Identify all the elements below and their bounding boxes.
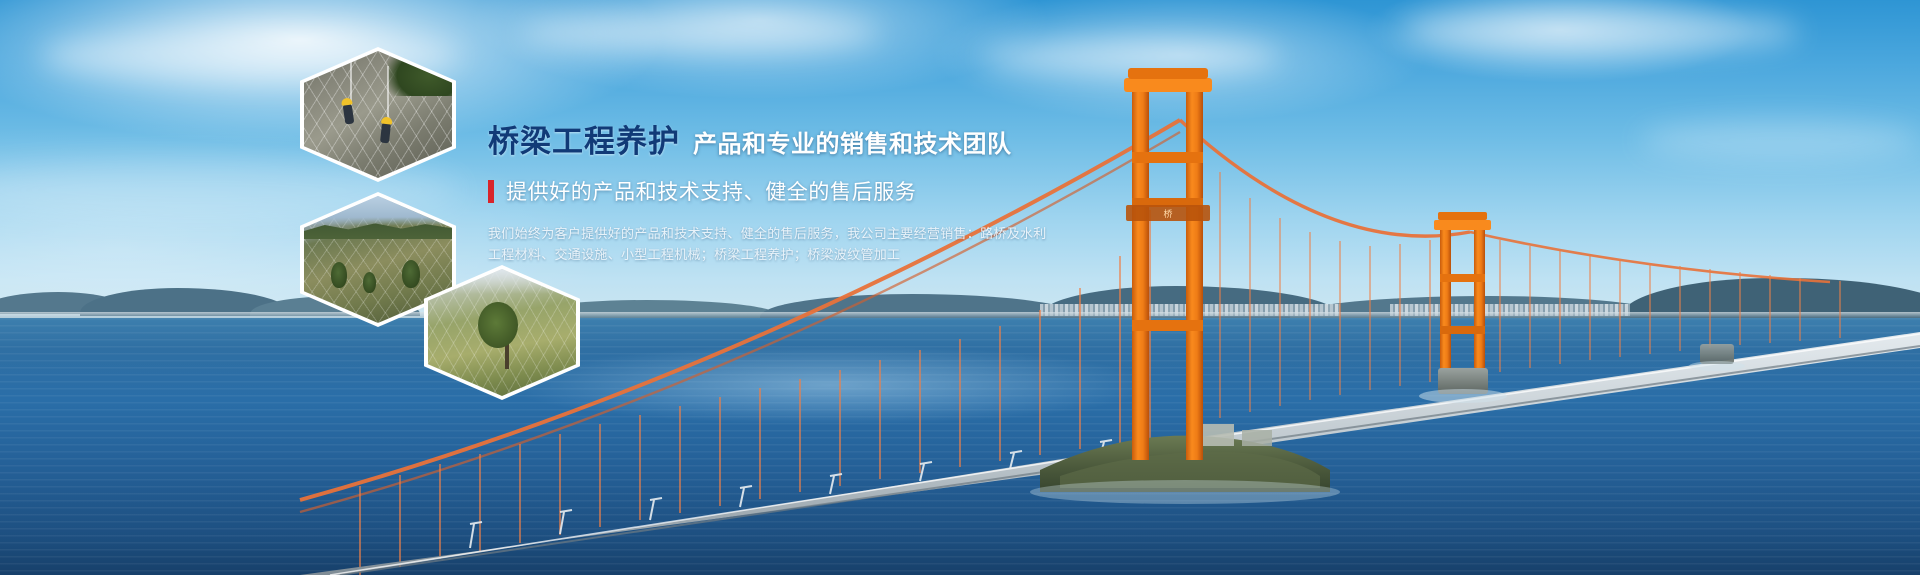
subtitle-text: 提供好的产品和技术支持、健全的售后服务 [506,176,916,206]
worker-figure [343,104,355,125]
thumbnail-rock-slope-mesh-installation[interactable] [300,47,456,182]
description-line: 工程材料、交通设施、小型工程机械；桥梁工程养护；桥梁波纹管加工 [488,245,1048,266]
tree [363,272,376,293]
headline-main: 桥梁工程养护 [488,125,680,159]
sky-band [304,196,452,226]
shrub-trunk [505,343,509,369]
headline-sub: 产品和专业的销售和技术团队 [693,131,1012,157]
worker-figure [380,123,391,144]
tree [402,260,420,288]
description-line: 我们始终为客户提供好的产品和技术支持、健全的售后服务，我公司主要经营销售：路桥及… [488,224,1048,245]
tree [331,262,347,288]
hero-banner: 桥 [0,0,1920,575]
banner-copy: 桥梁工程养护 产品和专业的销售和技术团队 提供好的产品和技术支持、健全的售后服务… [488,125,1048,266]
shrub [478,302,518,348]
headline: 桥梁工程养护 产品和专业的销售和技术团队 [488,125,1048,159]
svg-text:桥: 桥 [1163,208,1172,220]
red-accent-bar [488,180,494,203]
subtitle: 提供好的产品和技术支持、健全的售后服务 [488,176,1048,206]
description: 我们始终为客户提供好的产品和技术支持、健全的售后服务，我公司主要经营销售：路桥及… [488,224,1048,266]
thumbnail-grass-slope-mesh-shrub[interactable] [424,265,580,400]
suspension-bridge-illustration: 桥 [0,0,1920,575]
